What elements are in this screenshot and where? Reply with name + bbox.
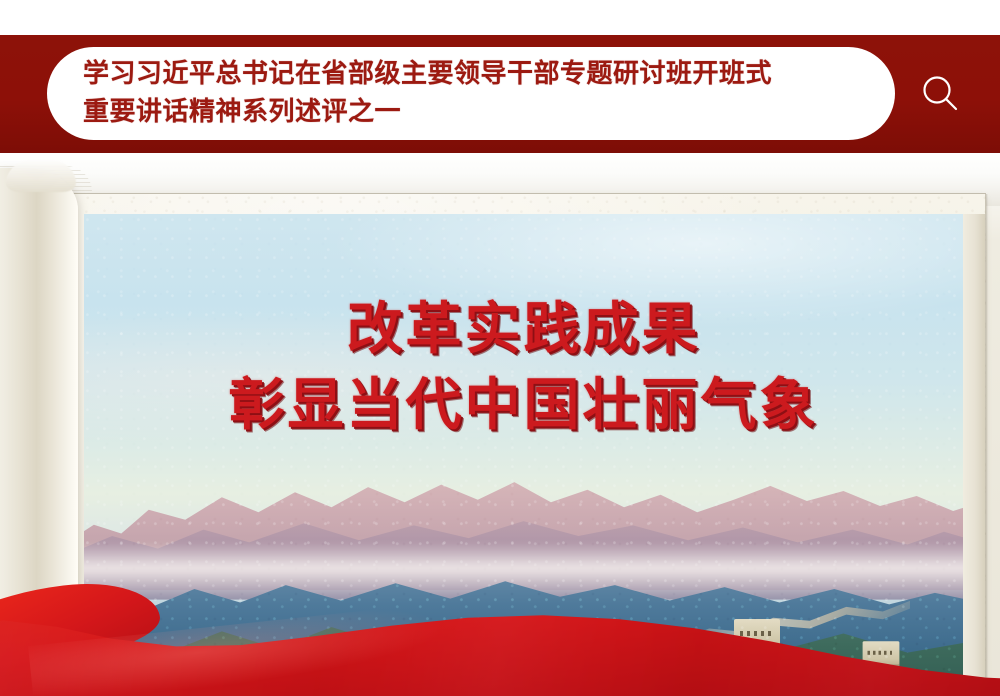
search-button[interactable]	[910, 63, 972, 125]
header-title-text: 学习习近平总书记在省部级主要领导干部专题研讨班开班式 重要讲话精神系列述评之一	[83, 55, 883, 131]
header-bar: 学习习近平总书记在省部级主要领导干部专题研讨班开班式 重要讲话精神系列述评之一	[0, 35, 1000, 153]
search-icon	[918, 71, 964, 117]
poster-title-line-2: 彰显当代中国壮丽气象	[84, 368, 963, 444]
page-right-edge	[963, 214, 985, 696]
poster-title-line-1: 改革实践成果	[347, 297, 701, 362]
book-page-curl	[0, 168, 78, 696]
poster-title: 改革实践成果 彰显当代中国壮丽气象	[84, 292, 963, 444]
great-wall-watchtower	[734, 619, 780, 651]
header-title-pill[interactable]: 学习习近平总书记在省部级主要领导干部专题研讨班开班式 重要讲话精神系列述评之一	[47, 47, 895, 140]
article-banner-page: 改革实践成果 彰显当代中国壮丽气象 学习习近平总书记在省部级主要领导干部专题研讨…	[0, 0, 1000, 696]
great-wall-watchtower	[862, 641, 899, 667]
page-outer-edge-line	[985, 194, 988, 696]
landscape-illustration	[84, 214, 963, 696]
